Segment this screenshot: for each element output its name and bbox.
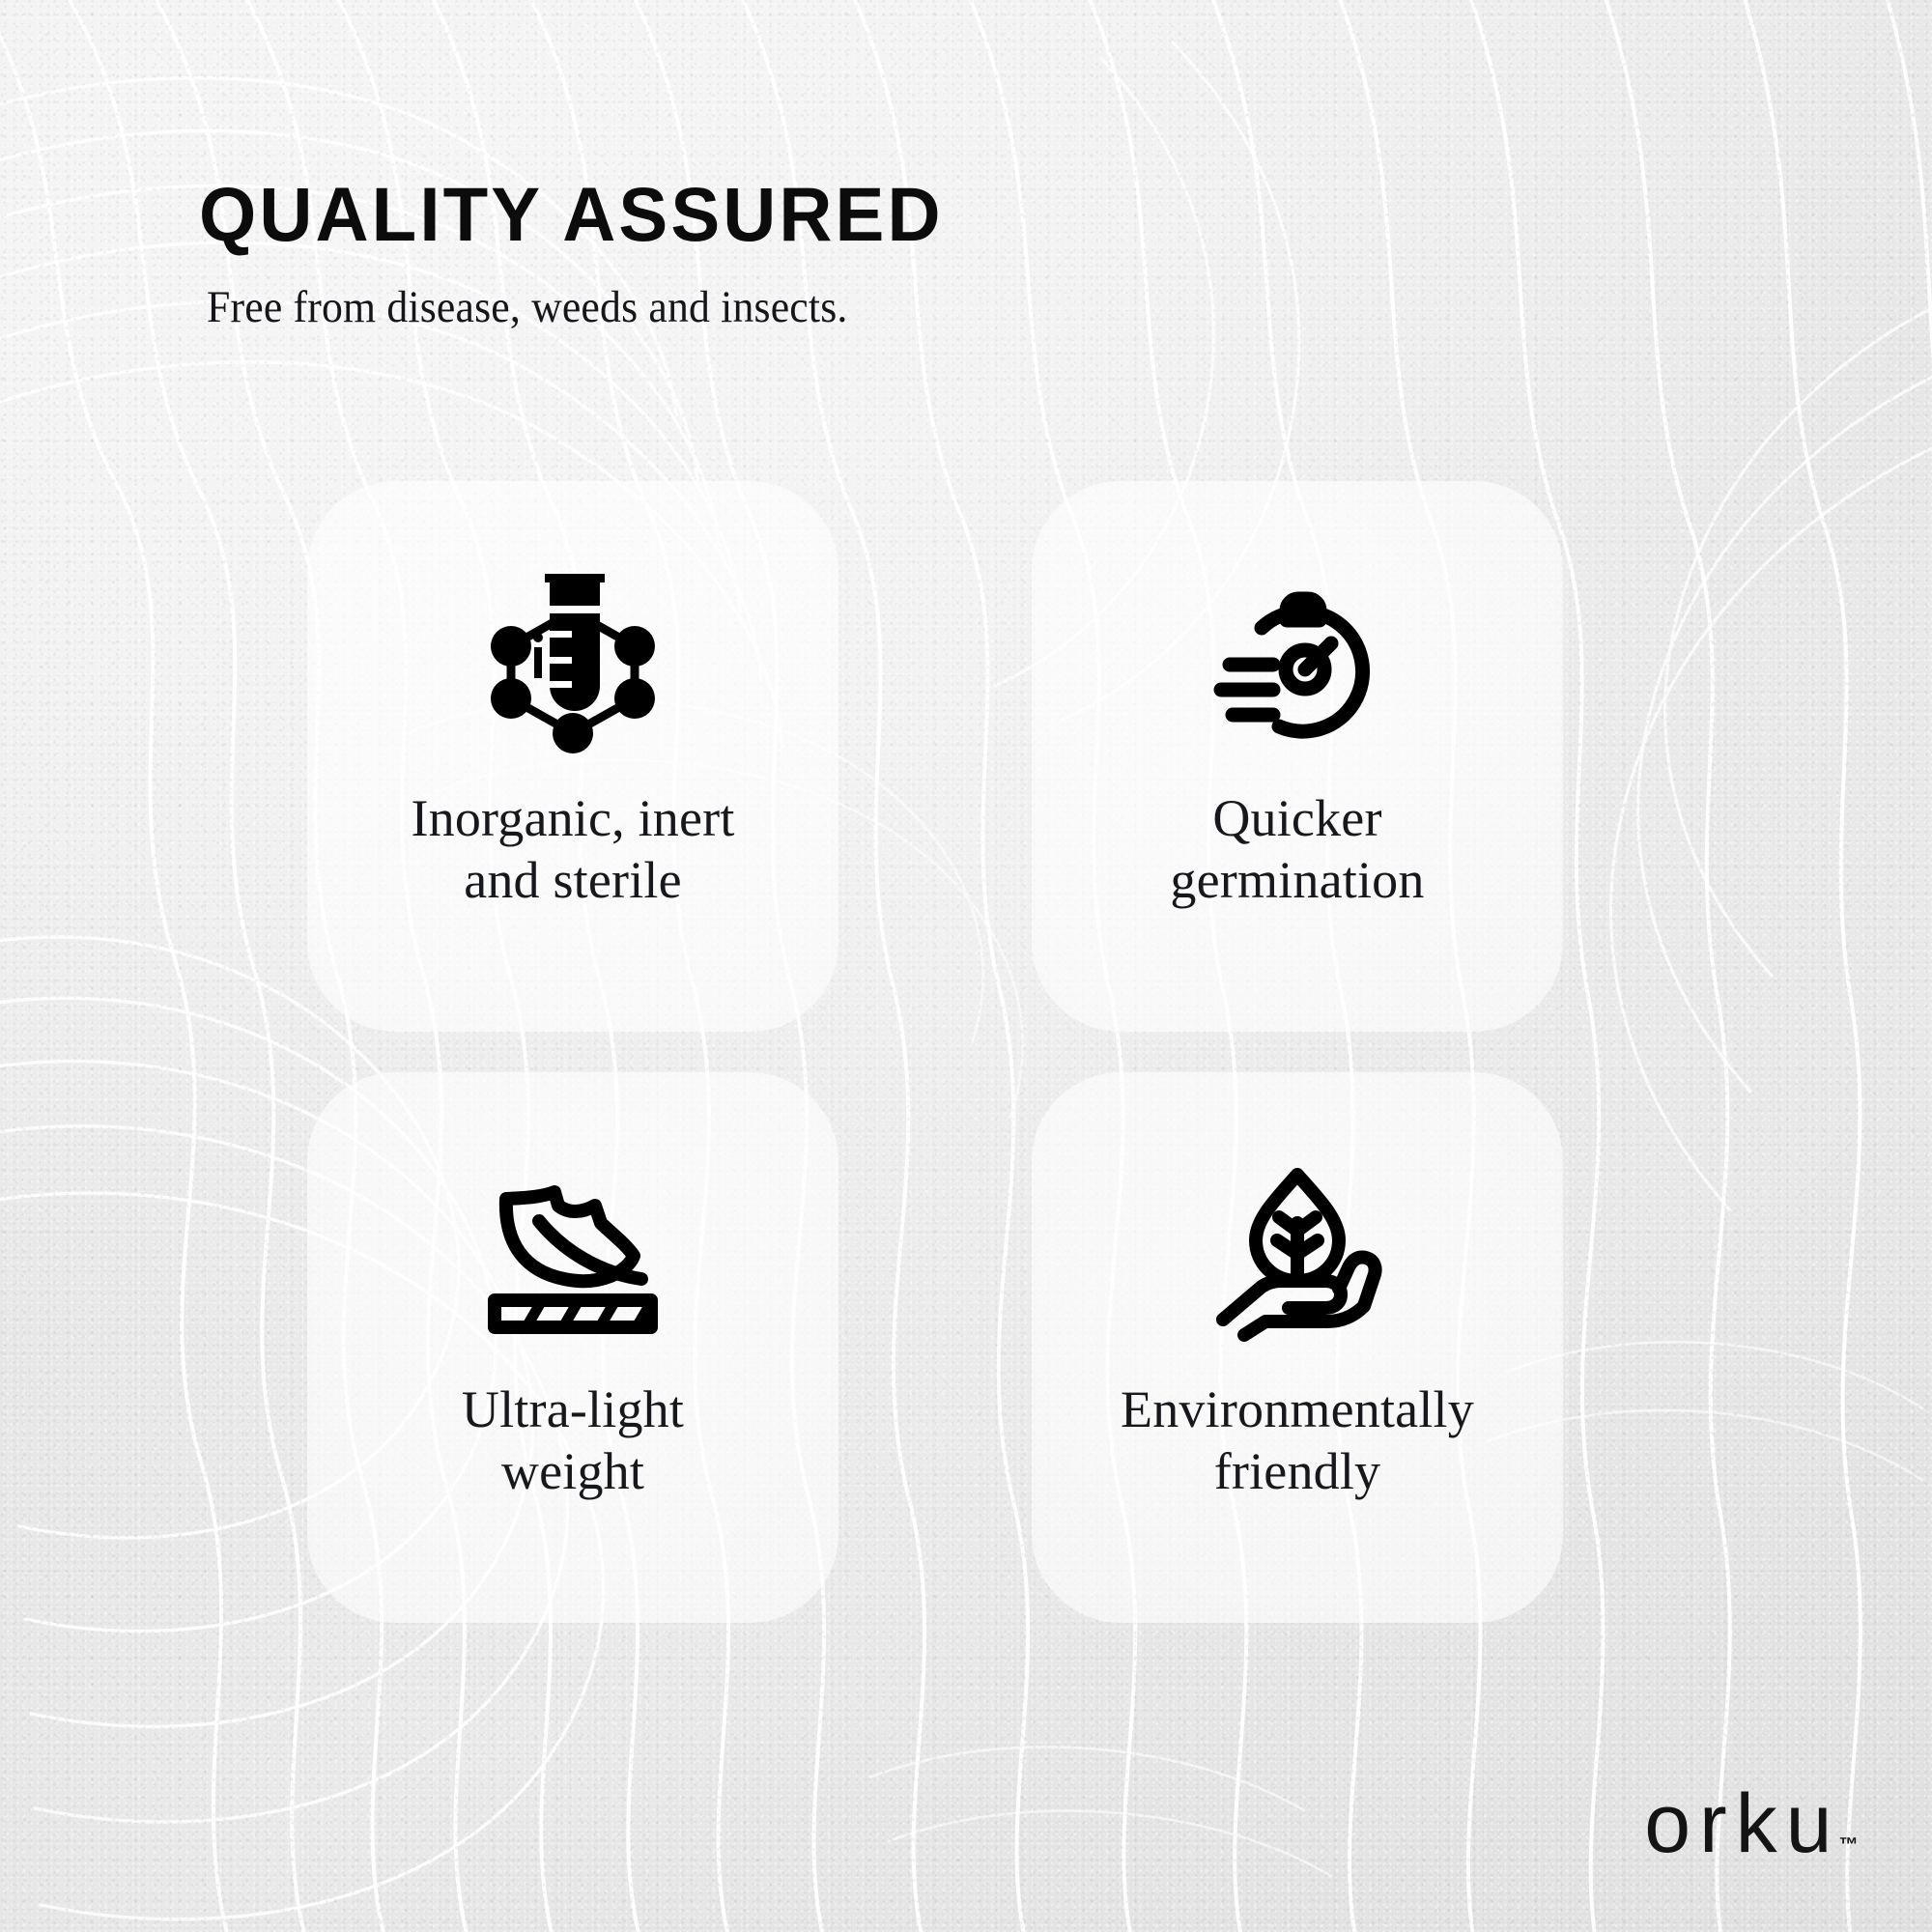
page-title: QUALITY ASSURED [199,176,1318,254]
brand-logo: orku ™ [1644,1785,1859,1864]
feature-card-label: Inorganic, inert and sterile [411,788,734,911]
feather-on-scale-icon [481,1163,665,1347]
page-subtitle: Free from disease, weeds and insects. [207,283,1278,333]
feature-card-environmentally-friendly: Environmentally friendly [1032,1072,1563,1623]
trademark-symbol: ™ [1839,1834,1860,1857]
header: QUALITY ASSURED Free from disease, weeds… [199,176,1358,332]
leaf-in-hand-icon [1206,1163,1389,1347]
feature-card-grid: Inorganic, inert and sterile [307,481,1660,1623]
fast-stopwatch-icon [1206,572,1389,755]
poster-canvas: QUALITY ASSURED Free from disease, weeds… [0,0,1932,1932]
molecule-test-tube-icon [481,572,665,755]
feature-card-label: Environmentally friendly [1121,1379,1474,1502]
feature-card-label: Quicker germination [1170,788,1424,911]
feature-card-label: Ultra-light weight [462,1379,684,1502]
feature-card-quicker-germination: Quicker germination [1032,481,1563,1032]
brand-logo-wordmark: orku [1644,1785,1840,1864]
feature-card-ultra-light-weight: Ultra-light weight [307,1072,838,1623]
feature-card-inorganic-inert-and-sterile: Inorganic, inert and sterile [307,481,838,1032]
